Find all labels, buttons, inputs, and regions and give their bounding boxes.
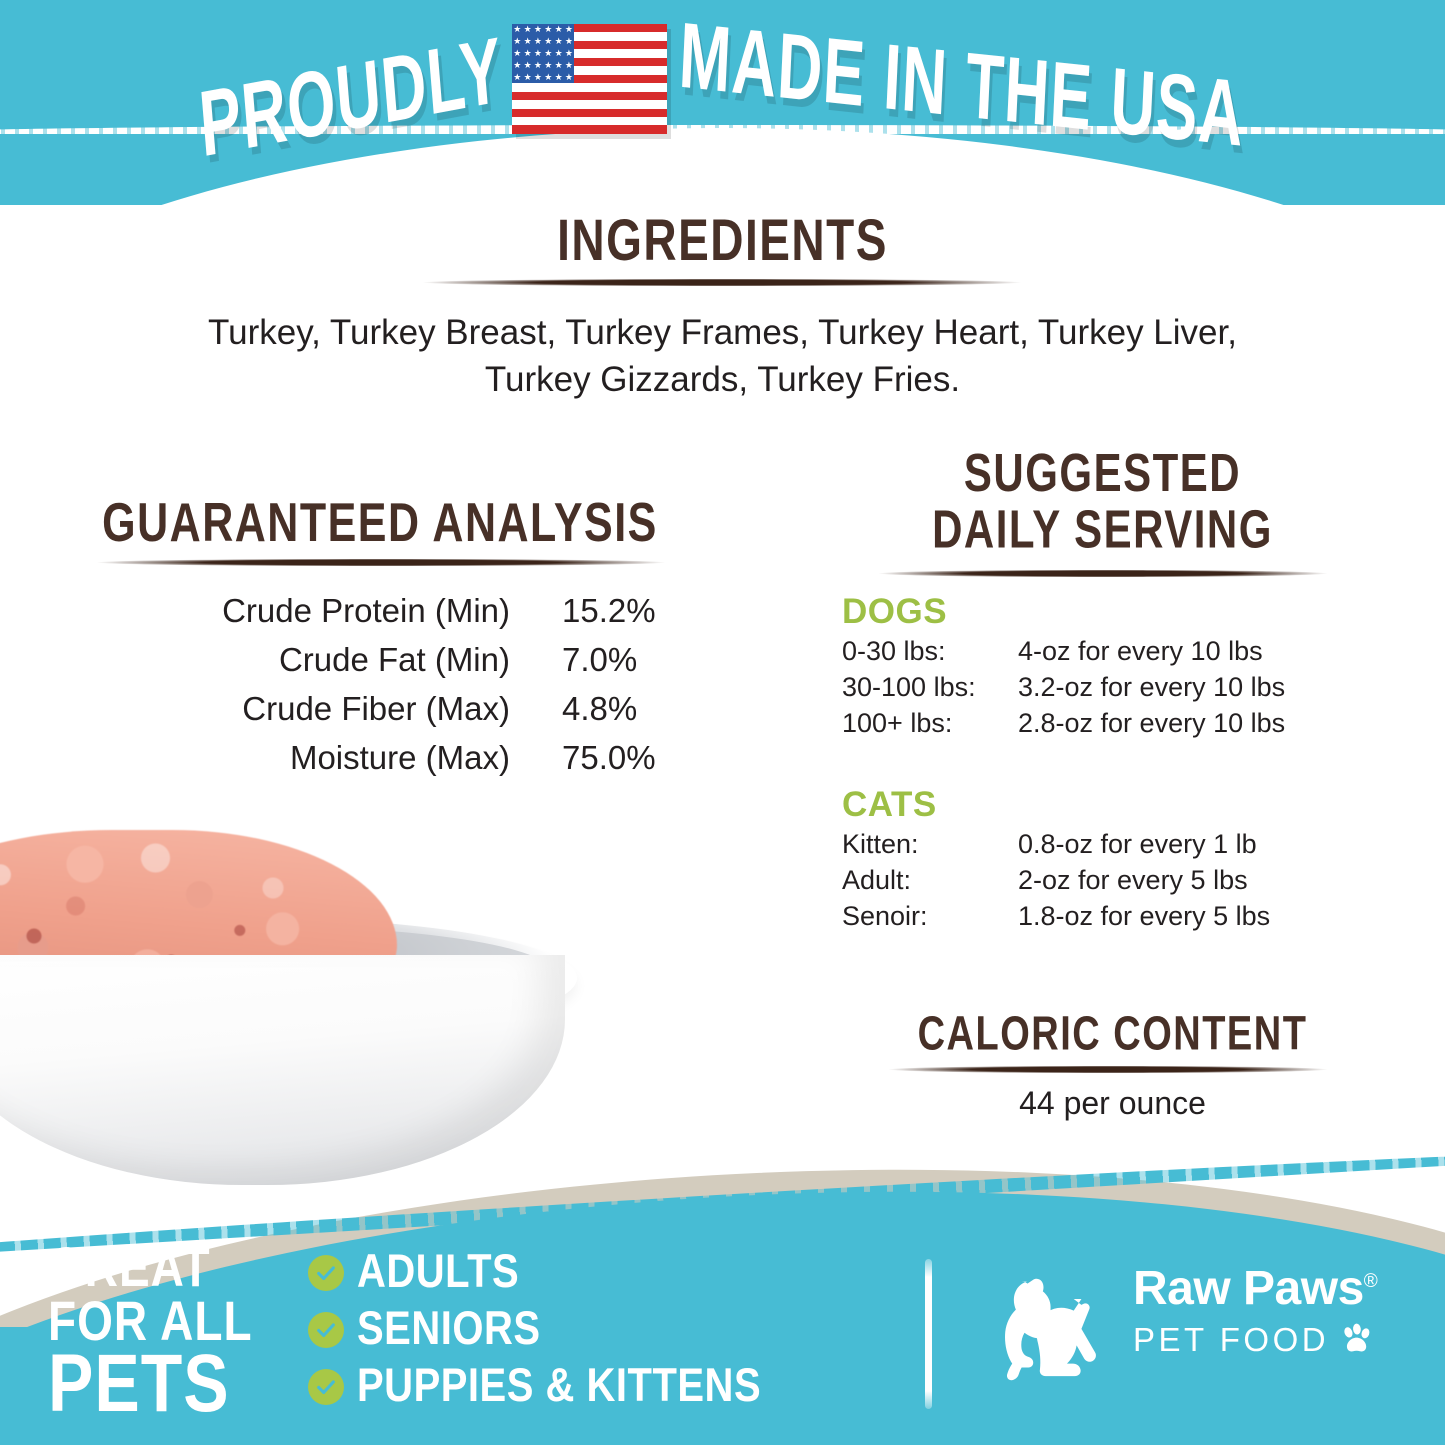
serving-amount: 0.8-oz for every 1 lb [1018, 829, 1257, 860]
check-circle-icon [308, 1255, 344, 1291]
analysis-label: Crude Fat (Min) [100, 641, 510, 679]
list-item: Kitten: 0.8-oz for every 1 lb [842, 829, 1402, 860]
brand-name: Raw Paws® [1133, 1265, 1377, 1313]
brand-wordmark: Raw Paws® PET FOOD [1133, 1265, 1423, 1356]
analysis-label: Moisture (Max) [100, 739, 510, 777]
meat-highlight [0, 822, 367, 942]
made-in-the-usa-text: MADE IN THE USA [677, 3, 1247, 168]
registered-trademark-icon: ® [1364, 1271, 1378, 1292]
brand-name-text: Raw Paws [1133, 1262, 1364, 1315]
guaranteed-analysis-rule [96, 559, 666, 566]
list-item: ADULTS [308, 1250, 908, 1295]
check-circle-icon [308, 1369, 344, 1405]
flag-canton: ★★★★★★ ★★★★★★ ★★★★★★ ★★★★★★ ★★★★★★ [512, 24, 574, 83]
check-circle-icon [308, 1312, 344, 1348]
serving-amount: 1.8-oz for every 5 lbs [1018, 901, 1270, 932]
cats-serving-group: CATS Kitten: 0.8-oz for every 1 lb Adult… [842, 785, 1402, 937]
list-item: 30-100 lbs: 3.2-oz for every 10 lbs [842, 672, 1402, 703]
serving-amount: 3.2-oz for every 10 lbs [1018, 672, 1285, 703]
list-item: Senoir: 1.8-oz for every 5 lbs [842, 901, 1402, 932]
serving-amount: 2.8-oz for every 10 lbs [1018, 708, 1285, 739]
caloric-content-title: CALORIC CONTENT [820, 1010, 1405, 1061]
check-label: ADULTS [357, 1246, 519, 1299]
guaranteed-analysis-title: GUARANTEED ANALYSIS [40, 495, 720, 552]
table-row: Crude Protein (Min) 15.2% [45, 592, 690, 630]
analysis-label: Crude Fiber (Max) [100, 690, 510, 728]
weight-range: 100+ lbs: [842, 708, 1018, 739]
list-item: SENIORS [308, 1307, 908, 1352]
brand-tagline-row: PET FOOD [1133, 1322, 1423, 1356]
analysis-value: 4.8% [510, 690, 690, 728]
guaranteed-analysis-table: Crude Protein (Min) 15.2% Crude Fat (Min… [45, 592, 690, 788]
weight-range: 30-100 lbs: [842, 672, 1018, 703]
usa-flag-icon: ★★★★★★ ★★★★★★ ★★★★★★ ★★★★★★ ★★★★★★ [512, 24, 667, 134]
paw-print-icon [1339, 1322, 1373, 1356]
proudly-text: PROUDLY [195, 17, 506, 178]
dogs-serving-group: DOGS 0-30 lbs: 4-oz for every 10 lbs 30-… [842, 592, 1402, 744]
list-item: Adult: 2-oz for every 5 lbs [842, 865, 1402, 896]
footer-divider [925, 1259, 932, 1409]
check-label: SENIORS [357, 1303, 541, 1356]
life-stage: Adult: [842, 865, 1018, 896]
brand-logo: Raw Paws® PET FOOD [985, 1255, 1415, 1405]
dogs-heading: DOGS [842, 592, 1402, 632]
suggested-serving-title: SUGGESTED DAILY SERVING [790, 445, 1415, 557]
serving-amount: 2-oz for every 5 lbs [1018, 865, 1248, 896]
life-stage: Senoir: [842, 901, 1018, 932]
list-item: 0-30 lbs: 4-oz for every 10 lbs [842, 636, 1402, 667]
suitable-pets-checklist: ADULTS SENIORS PUPPIES & KITTENS [308, 1250, 908, 1421]
caloric-content-rule [888, 1066, 1328, 1073]
weight-range: 0-30 lbs: [842, 636, 1018, 667]
made-in-usa-headline: PROUDLY ★★★★★★ ★★★★★★ ★★★★★★ ★★★★★★ ★★★ [0, 0, 1445, 160]
table-row: Crude Fiber (Max) 4.8% [45, 690, 690, 728]
great-for-all-pets-headline: GREAT FOR ALL PETS [48, 1249, 328, 1423]
suggested-serving-title-line2: DAILY SERVING [790, 501, 1415, 557]
dog-and-cat-silhouette-icon [985, 1263, 1120, 1391]
list-item: PUPPIES & KITTENS [308, 1364, 908, 1409]
serving-amount: 4-oz for every 10 lbs [1018, 636, 1263, 667]
great-line-1: GREAT [48, 1241, 328, 1294]
analysis-value: 75.0% [510, 739, 690, 777]
table-row: Moisture (Max) 75.0% [45, 739, 690, 777]
list-item: 100+ lbs: 2.8-oz for every 10 lbs [842, 708, 1402, 739]
analysis-value: 15.2% [510, 592, 690, 630]
cats-heading: CATS [842, 785, 1402, 825]
ingredients-title: INGREDIENTS [0, 210, 1445, 271]
check-label: PUPPIES & KITTENS [357, 1360, 761, 1413]
ingredients-text: Turkey, Turkey Breast, Turkey Frames, Tu… [160, 310, 1285, 403]
analysis-value: 7.0% [510, 641, 690, 679]
analysis-label: Crude Protein (Min) [100, 592, 510, 630]
great-line-3: PETS [48, 1345, 328, 1423]
product-label-page: PROUDLY ★★★★★★ ★★★★★★ ★★★★★★ ★★★★★★ ★★★ [0, 0, 1445, 1445]
life-stage: Kitten: [842, 829, 1018, 860]
footer-content: GREAT FOR ALL PETS ADULTS SENIORS [0, 1185, 1445, 1445]
ingredients-rule [422, 279, 1022, 286]
suggested-serving-rule [878, 570, 1328, 577]
brand-tagline: PET FOOD [1133, 1323, 1329, 1356]
suggested-serving-title-line1: SUGGESTED [790, 445, 1415, 501]
table-row: Crude Fat (Min) 7.0% [45, 641, 690, 679]
